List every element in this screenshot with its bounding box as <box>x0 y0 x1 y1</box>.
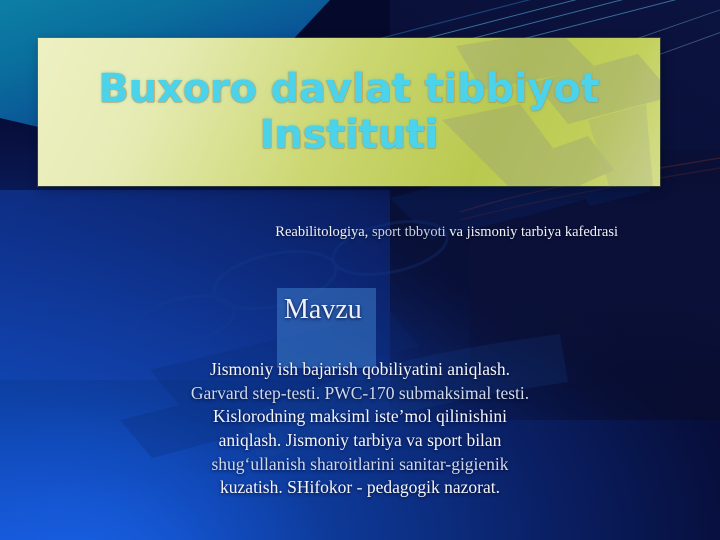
body-line: kuzatish. SHifokor - pedagogik nazorat. <box>220 477 500 497</box>
body-line: Garvard step-testi. PWC-170 submaksimal … <box>191 383 529 403</box>
body-line: aniqlash. Jismoniy tarbiya va sport bila… <box>219 430 502 450</box>
body-line: Kislorodning maksiml iste’mol qilinishin… <box>213 406 507 426</box>
subtitle-part-b: sport tbbyoti <box>372 224 446 240</box>
subtitle-part-a: Reabilitologiya, <box>275 224 372 240</box>
slide-title-box: Buxoro davlat tibbiyot Instituti <box>38 38 660 186</box>
page-title: Buxoro davlat tibbiyot Instituti <box>38 66 660 158</box>
slide-body-text: Jismoniy ish bajarish qobiliyatini aniql… <box>120 358 600 500</box>
title-line-1: Buxoro davlat tibbiyot <box>99 66 600 112</box>
body-line: Jismoniy ish bajarish qobiliyatini aniql… <box>210 359 510 379</box>
title-line-2: Instituti <box>260 112 439 158</box>
body-line: shug‘ullanish sharoitlarini sanitar-gigi… <box>211 454 508 474</box>
presentation-slide: Buxoro davlat tibbiyot Instituti Reabili… <box>0 0 720 540</box>
subtitle-part-c: va jismoniy tarbiya kafedrasi <box>446 224 618 240</box>
slide-subtitle: Reabilitologiya, sport tbbyoti va jismon… <box>244 222 618 243</box>
mavzu-label: Mavzu <box>284 292 376 328</box>
